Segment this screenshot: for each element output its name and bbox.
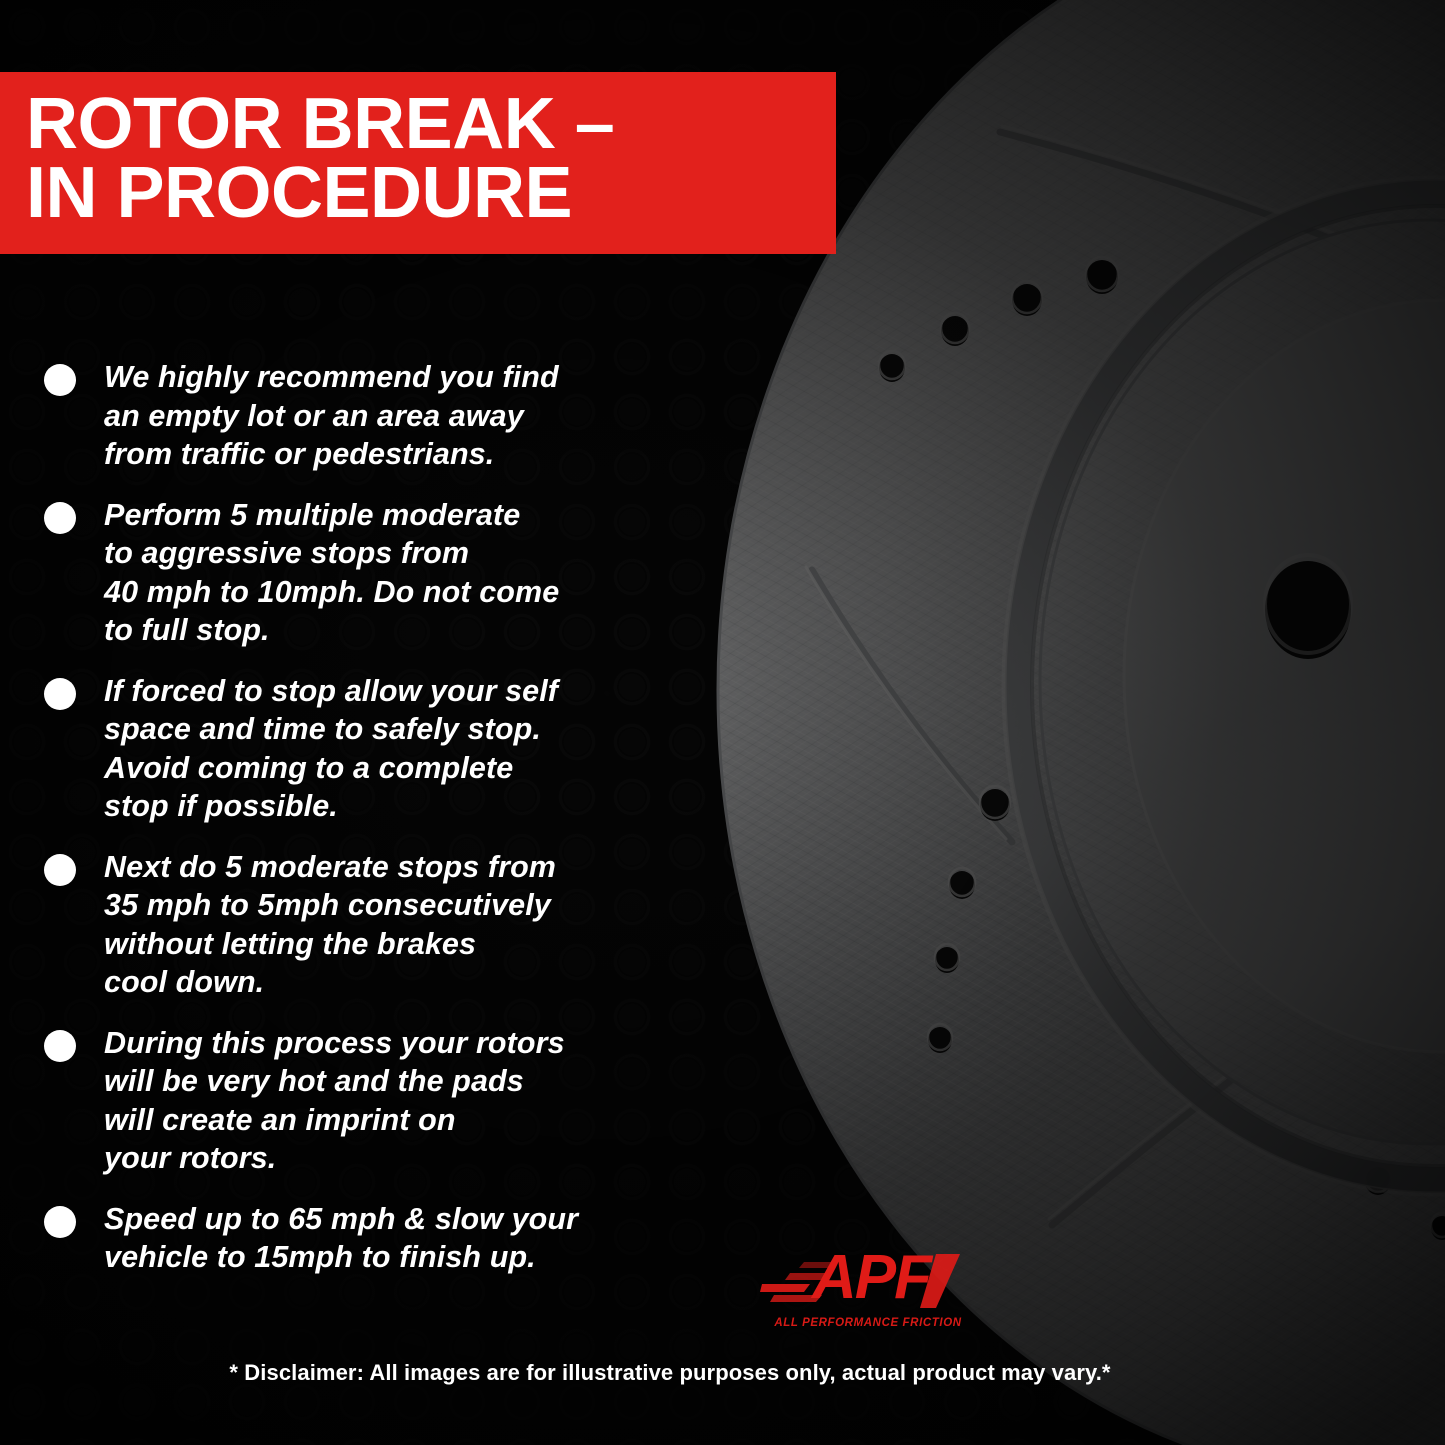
apf-logo: APF ALL PERFORMANCE FRICTION <box>760 1232 978 1334</box>
title-line-1: ROTOR BREAK – <box>26 90 810 159</box>
promo-graphic: ROTOR BREAK – IN PROCEDURE We highly rec… <box>0 0 1445 1445</box>
bullet-dot-icon <box>44 854 76 886</box>
list-item: If forced to stop allow your self space … <box>44 672 754 826</box>
bullet-dot-icon <box>44 1030 76 1062</box>
logo-tagline: ALL PERFORMANCE FRICTION <box>773 1317 961 1329</box>
list-item-label: Perform 5 multiple moderate to aggressiv… <box>104 496 754 650</box>
list-item: Next do 5 moderate stops from 35 mph to … <box>44 848 754 1002</box>
list-item: Perform 5 multiple moderate to aggressiv… <box>44 496 754 650</box>
svg-text:APF: APF <box>810 1243 934 1312</box>
title-line-2: IN PROCEDURE <box>26 159 810 228</box>
bullet-dot-icon <box>44 678 76 710</box>
bullet-dot-icon <box>44 1206 76 1238</box>
bullet-dot-icon <box>44 364 76 396</box>
apf-wordmark: APF <box>810 1243 934 1312</box>
list-item: Speed up to 65 mph & slow your vehicle t… <box>44 1200 754 1277</box>
list-item-label: Speed up to 65 mph & slow your vehicle t… <box>104 1200 754 1277</box>
procedure-step-list: We highly recommend you find an empty lo… <box>44 358 754 1299</box>
list-item-label: During this process your rotors will be … <box>104 1024 754 1178</box>
list-item-label: We highly recommend you find an empty lo… <box>104 358 754 474</box>
list-item-label: If forced to stop allow your self space … <box>104 672 754 826</box>
list-item: During this process your rotors will be … <box>44 1024 754 1178</box>
disclaimer-text: * Disclaimer: All images are for illustr… <box>0 1360 1340 1386</box>
bullet-dot-icon <box>44 502 76 534</box>
list-item-label: Next do 5 moderate stops from 35 mph to … <box>104 848 754 1002</box>
title-banner: ROTOR BREAK – IN PROCEDURE <box>0 72 836 254</box>
list-item: We highly recommend you find an empty lo… <box>44 358 754 474</box>
